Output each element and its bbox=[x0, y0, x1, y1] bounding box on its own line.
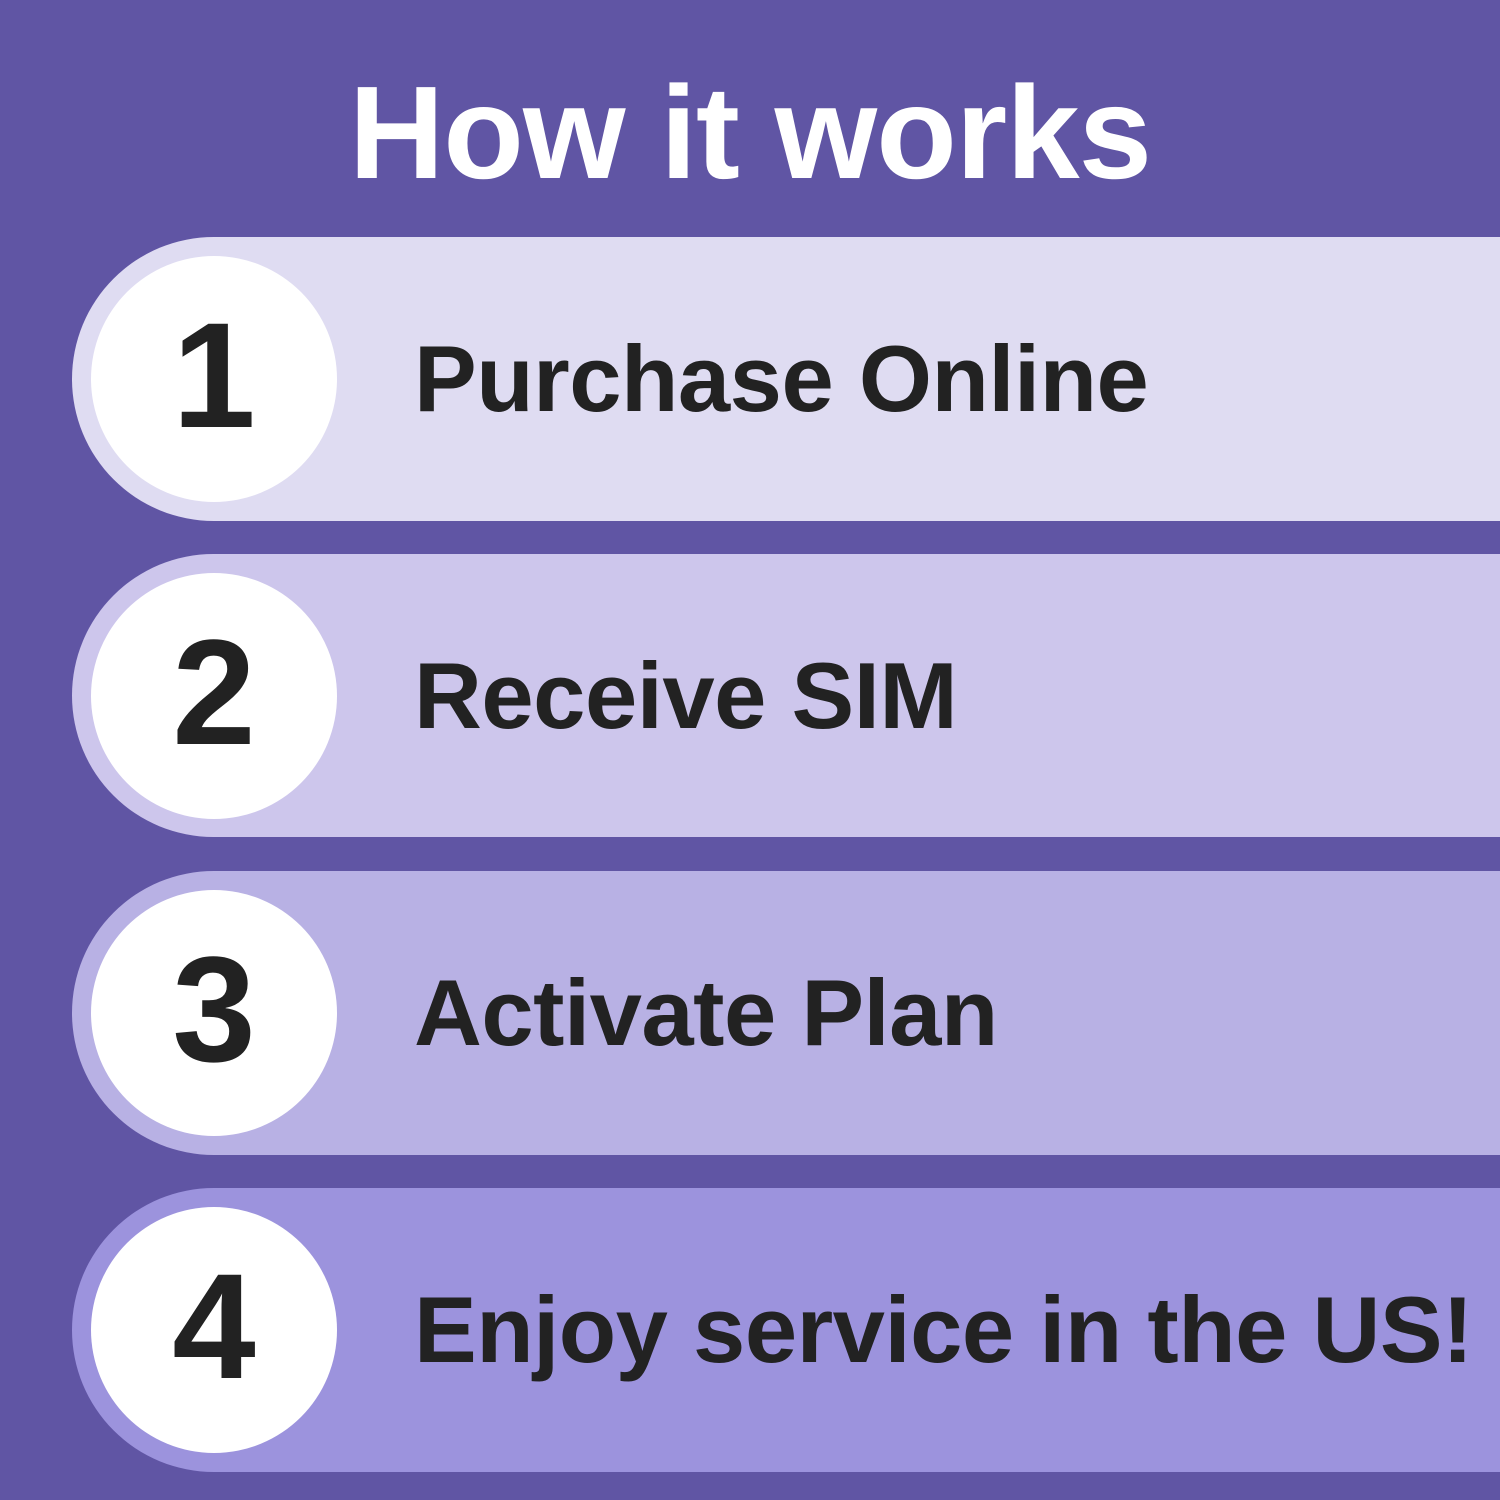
step-label-3: Activate Plan bbox=[414, 965, 1500, 1061]
step-number-4: 4 bbox=[172, 1251, 255, 1401]
step-number-badge-4: 4 bbox=[91, 1207, 337, 1453]
step-number-badge-3: 3 bbox=[91, 890, 337, 1136]
how-it-works-poster: How it works 1 Purchase Online 2 Receive… bbox=[0, 0, 1500, 1500]
step-item-2: 2 Receive SIM bbox=[72, 554, 1500, 837]
step-item-4: 4 Enjoy service in the US! bbox=[72, 1188, 1500, 1472]
step-number-2: 2 bbox=[172, 617, 255, 767]
step-item-3: 3 Activate Plan bbox=[72, 871, 1500, 1155]
steps-list: 1 Purchase Online 2 Receive SIM 3 Activa… bbox=[0, 0, 1500, 1500]
step-number-badge-1: 1 bbox=[91, 256, 337, 502]
step-item-1: 1 Purchase Online bbox=[72, 237, 1500, 521]
step-number-3: 3 bbox=[172, 934, 255, 1084]
step-label-1: Purchase Online bbox=[414, 331, 1500, 427]
step-label-4: Enjoy service in the US! bbox=[414, 1282, 1500, 1378]
step-label-2: Receive SIM bbox=[414, 648, 1500, 744]
step-number-1: 1 bbox=[172, 300, 255, 450]
step-number-badge-2: 2 bbox=[91, 573, 337, 819]
